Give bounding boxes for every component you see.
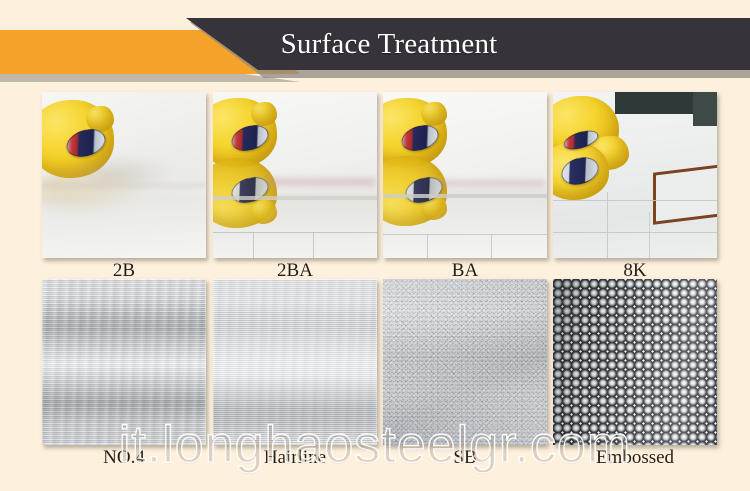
finish-cell-embossed[interactable]: Embossed [553,279,723,471]
finish-label-sb: SB [383,447,547,469]
finish-swatch-2ba [213,92,377,258]
finish-cell-2ba[interactable]: 2BA [213,92,383,284]
finish-cell-8k[interactable]: 8K [553,92,723,284]
finish-row-mirror: 2B [0,92,750,284]
finish-swatch-hairline [213,279,377,445]
surface-finish-grid: 2B [0,92,750,491]
finish-cell-2b[interactable]: 2B [42,92,212,284]
finish-label-embossed: Embossed [553,447,717,469]
finish-cell-no4[interactable]: NO.4 [42,279,212,471]
finish-swatch-ba [383,92,547,258]
page-title: Surface Treatment [0,18,750,70]
finish-row-textured: NO.4 Hairline [0,279,750,471]
finish-swatch-embossed [553,279,717,445]
finish-label-hairline: Hairline [213,447,377,469]
finish-cell-hairline[interactable]: Hairline [213,279,383,471]
finish-label-no4: NO.4 [42,447,206,469]
finish-swatch-8k [553,92,717,258]
finish-swatch-2b [42,92,206,258]
finish-swatch-sb [383,279,547,445]
finish-cell-ba[interactable]: BA [383,92,553,284]
finish-cell-sb[interactable]: SB [383,279,553,471]
finish-swatch-no4 [42,279,206,445]
page-header: Surface Treatment [0,0,750,92]
